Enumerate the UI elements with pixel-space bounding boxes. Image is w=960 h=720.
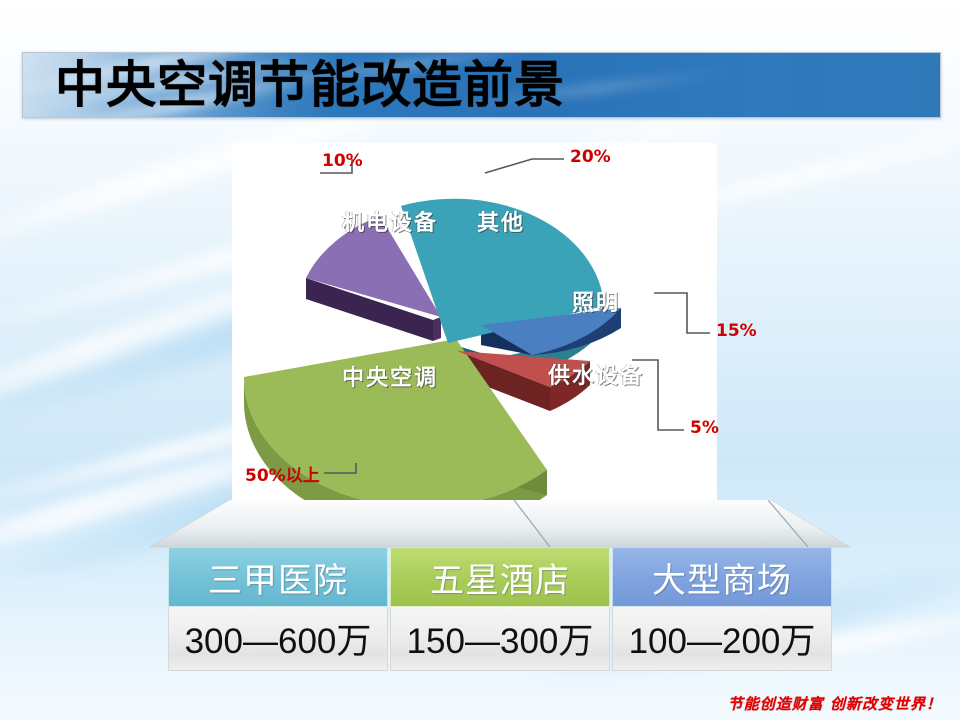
table-column-mall: 大型商场 100—200万 — [612, 547, 832, 672]
pie-chart-panel: 机电设备 其他 照明 供水设备 中央空调 10% 20% 15% 5% 50%以… — [232, 143, 717, 505]
leader-line-20pct — [485, 159, 564, 173]
slide-canvas: 中央空调节能改造前景 — [0, 0, 960, 720]
pct-label-electromechanical: 10% — [322, 151, 363, 171]
table-header-hospital: 三甲医院 — [168, 547, 388, 607]
table-3d-top-face — [150, 500, 850, 548]
leader-line-15pct — [654, 293, 710, 333]
slice-label-central-ac: 中央空调 — [342, 360, 438, 392]
table-grid: 三甲医院 300—600万 五星酒店 150—300万 大型商场 100—200… — [168, 547, 832, 672]
slice-label-others: 其他 — [477, 205, 525, 237]
table-column-hospital: 三甲医院 300—600万 — [168, 547, 388, 672]
page-title: 中央空调节能改造前景 — [55, 52, 565, 118]
table-cell-mall-value: 100—200万 — [612, 607, 832, 671]
slice-label-water-supply: 供水设备 — [548, 358, 644, 390]
table-cell-hospital-value: 300—600万 — [168, 607, 388, 671]
footer-slogan: 节能创造财富 创新改变世界！ — [728, 693, 942, 714]
table-header-hotel: 五星酒店 — [390, 547, 610, 607]
table-header-mall: 大型商场 — [612, 547, 832, 607]
slice-label-electromechanical: 机电设备 — [342, 205, 438, 237]
pct-label-water-supply: 5% — [690, 418, 719, 438]
pct-label-central-ac: 50%以上 — [245, 461, 320, 486]
pct-label-others: 20% — [570, 147, 611, 167]
title-banner: 中央空调节能改造前景 — [22, 52, 941, 118]
pie-chart-svg — [232, 143, 717, 505]
comparison-table: 三甲医院 300—600万 五星酒店 150—300万 大型商场 100—200… — [150, 500, 850, 680]
slice-label-lighting: 照明 — [572, 285, 620, 317]
pct-label-lighting: 15% — [716, 321, 757, 341]
table-cell-hotel-value: 150—300万 — [390, 607, 610, 671]
table-column-hotel: 五星酒店 150—300万 — [390, 547, 610, 672]
